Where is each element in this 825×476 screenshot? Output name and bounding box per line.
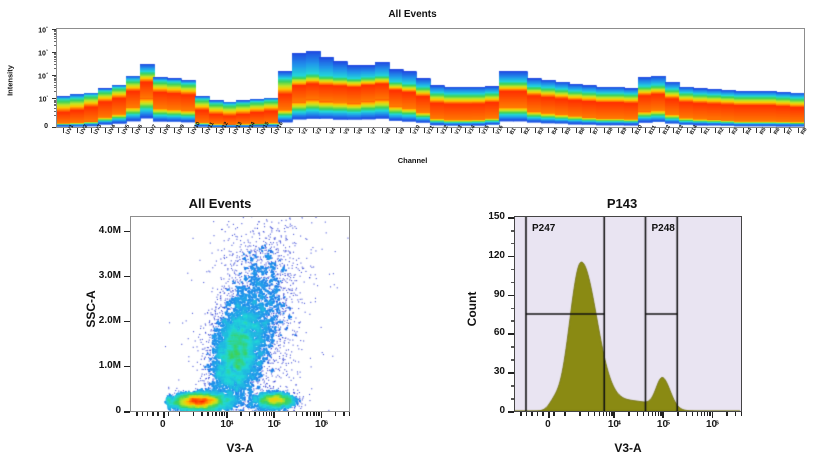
histogram-y-tick-label: 30 bbox=[494, 366, 505, 377]
scatter-title: All Events bbox=[90, 196, 350, 211]
spectral-channel-label: B2 bbox=[523, 127, 532, 136]
histogram-x-tickmark bbox=[526, 412, 527, 416]
scatter-plot-frame bbox=[130, 216, 350, 412]
scatter-x-tick-labels: 010⁴10⁵10⁶ bbox=[130, 419, 350, 435]
scatter-y-tick-label: 4.0M bbox=[99, 225, 121, 236]
spectral-y-axis-label: Intensity bbox=[6, 51, 15, 111]
scatter-x-axis-label: V3-A bbox=[130, 441, 350, 455]
histogram-y-tick-label: 150 bbox=[488, 211, 505, 222]
histogram-x-tickmark bbox=[599, 412, 600, 416]
scatter-x-tickmark bbox=[335, 412, 336, 416]
scatter-x-tickmark bbox=[254, 412, 255, 416]
scatter-y-tick-label: 0 bbox=[115, 405, 121, 416]
scatter-x-tickmark bbox=[318, 412, 319, 416]
spectral-y-tick-label: 10³ bbox=[39, 94, 48, 103]
histogram-title: P143 bbox=[497, 196, 747, 211]
scatter-x-tick-label: 10⁴ bbox=[220, 419, 231, 430]
histogram-x-tickmark bbox=[686, 412, 687, 416]
histogram-x-tickmark bbox=[726, 412, 727, 416]
spectral-channel-label: B1 bbox=[509, 127, 518, 136]
histogram-x-tickmark bbox=[660, 412, 661, 416]
gate-label-p247[interactable]: P247 bbox=[532, 223, 555, 234]
scatter-x-tickmarks bbox=[130, 412, 350, 419]
histogram-x-tick-label: 0 bbox=[545, 419, 551, 430]
spectral-channel-label: R2 bbox=[717, 127, 726, 136]
scatter-x-tickmark bbox=[142, 412, 143, 416]
spectral-y-axis: Intensity 010³10⁴10⁵10⁶ bbox=[0, 24, 56, 134]
spectral-channel-label: R4 bbox=[745, 127, 754, 136]
histogram-y-tick-label: 60 bbox=[494, 327, 505, 338]
histogram-y-tick-label: 120 bbox=[488, 250, 505, 261]
spectral-y-tick-label: 10⁴ bbox=[38, 71, 48, 80]
histogram-x-tickmark bbox=[520, 412, 521, 416]
histogram-x-tickmark bbox=[735, 412, 736, 416]
histogram-x-tickmark bbox=[677, 412, 678, 416]
scatter-x-tickmark bbox=[193, 412, 194, 416]
scatter-x-tickmark bbox=[273, 412, 275, 418]
histogram-x-tickmark bbox=[613, 412, 615, 418]
histogram-x-tickmark bbox=[643, 412, 644, 416]
spectral-plot-frame bbox=[56, 28, 805, 128]
spectral-density-canvas bbox=[57, 29, 804, 127]
histogram-x-tickmark bbox=[537, 412, 538, 416]
histogram-x-tickmark bbox=[606, 412, 607, 416]
scatter-y-axis: SSC-A 01.0M2.0M3.0M4.0M bbox=[70, 210, 130, 420]
histogram-plot-frame: P247 P248 bbox=[514, 216, 742, 412]
scatter-x-tickmark bbox=[263, 412, 264, 416]
histogram-x-tickmark bbox=[548, 412, 550, 418]
spectral-channel-label: V4 bbox=[329, 127, 337, 136]
histogram-x-tickmark bbox=[648, 412, 649, 416]
scatter-x-tickmark bbox=[201, 412, 202, 416]
histogram-x-tickmark bbox=[579, 412, 580, 416]
scatter-x-tickmark bbox=[207, 412, 208, 416]
scatter-x-tickmark bbox=[163, 412, 165, 418]
scatter-y-axis-label: SSC-A bbox=[84, 264, 98, 354]
scatter-y-tick-label: 3.0M bbox=[99, 270, 121, 281]
spectral-channel-label: V9 bbox=[398, 127, 406, 136]
histogram-x-tickmark bbox=[697, 412, 698, 416]
histogram-panel: P143 Count 0306090120150 P247 P248 010⁴1… bbox=[452, 196, 782, 476]
scatter-x-tickmark bbox=[321, 412, 323, 418]
histogram-x-tickmark bbox=[658, 412, 659, 416]
scatter-x-tickmark bbox=[313, 412, 314, 416]
scatter-x-tick-label: 10⁶ bbox=[315, 419, 326, 430]
scatter-x-tickmark bbox=[269, 412, 270, 416]
spectral-title: All Events bbox=[0, 9, 825, 20]
scatter-x-tickmark bbox=[226, 412, 228, 418]
histogram-x-tickmark bbox=[628, 412, 629, 416]
histogram-x-axis-label: V3-A bbox=[514, 441, 742, 455]
histogram-x-tickmark bbox=[662, 412, 664, 418]
spectral-channel-label: R3 bbox=[731, 127, 740, 136]
spectral-channel-label: V6 bbox=[356, 127, 364, 136]
scatter-x-tickmark bbox=[179, 412, 180, 416]
histogram-y-axis-label: Count bbox=[465, 269, 479, 349]
scatter-x-tickmark bbox=[306, 412, 307, 416]
histogram-x-tickmark bbox=[542, 412, 543, 416]
spectral-channel-label: V7 bbox=[370, 127, 378, 136]
scatter-x-tickmark bbox=[349, 412, 350, 416]
scatter-x-tick-label: 10⁵ bbox=[268, 419, 279, 430]
histogram-canvas bbox=[515, 217, 741, 411]
spectral-channel-label: B9 bbox=[620, 127, 629, 136]
histogram-x-tickmark bbox=[692, 412, 693, 416]
histogram-x-tickmarks bbox=[514, 412, 742, 419]
scatter-x-tickmark bbox=[259, 412, 260, 416]
histogram-x-tickmark bbox=[637, 412, 638, 416]
scatter-y-tick-label: 2.0M bbox=[99, 315, 121, 326]
histogram-x-tickmark bbox=[531, 412, 532, 416]
spectral-channel-label: B8 bbox=[606, 127, 615, 136]
histogram-x-tickmark bbox=[712, 412, 714, 418]
histogram-x-tickmark bbox=[564, 412, 565, 416]
histogram-x-tickmark bbox=[603, 412, 604, 416]
scatter-x-tickmark bbox=[215, 412, 216, 416]
histogram-x-tickmark bbox=[594, 412, 595, 416]
scatter-x-tickmark bbox=[302, 412, 303, 416]
scatter-density-canvas bbox=[131, 217, 349, 411]
scatter-x-tickmark bbox=[224, 412, 225, 416]
spectral-channel-label: V1 bbox=[287, 127, 295, 136]
scatter-x-tickmark bbox=[221, 412, 222, 416]
spectral-channel-label: V3 bbox=[315, 127, 323, 136]
spectral-channel-label: R1 bbox=[703, 127, 712, 136]
histogram-x-tick-label: 10⁴ bbox=[608, 419, 619, 430]
scatter-x-tickmark bbox=[136, 412, 137, 416]
scatter-x-tickmark bbox=[343, 412, 344, 416]
histogram-x-tickmark bbox=[553, 412, 554, 416]
histogram-x-tickmark bbox=[707, 412, 708, 416]
scatter-x-tickmark bbox=[316, 412, 317, 416]
histogram-y-axis: Count 0306090120150 bbox=[452, 210, 514, 420]
spectral-channel-label: B6 bbox=[578, 127, 587, 136]
scatter-plot-panel: All Events SSC-A 01.0M2.0M3.0M4.0M 010⁴1… bbox=[70, 196, 390, 476]
scatter-x-tickmark bbox=[271, 412, 272, 416]
scatter-x-tickmark bbox=[147, 412, 148, 416]
histogram-x-tickmark bbox=[704, 412, 705, 416]
histogram-x-tickmark bbox=[652, 412, 653, 416]
histogram-x-tick-labels: 010⁴10⁵10⁶ bbox=[514, 419, 742, 435]
scatter-x-tickmark bbox=[288, 412, 289, 416]
spectral-channel-labels: UV1UV2UV3UV4UV5UV6UV7UV8UV9UV10UV11UV12U… bbox=[56, 133, 805, 157]
scatter-x-tick-label: 0 bbox=[160, 419, 166, 430]
gate-label-p248[interactable]: P248 bbox=[651, 223, 674, 234]
histogram-x-tickmark bbox=[611, 412, 612, 416]
histogram-x-tickmark bbox=[701, 412, 702, 416]
spectral-channel-label: V8 bbox=[384, 127, 392, 136]
histogram-x-tick-label: 10⁵ bbox=[657, 419, 668, 430]
scatter-x-tickmark bbox=[310, 412, 311, 416]
scatter-x-tickmark bbox=[240, 412, 241, 416]
spectral-y-tick-label: 0 bbox=[44, 123, 48, 130]
spectral-channel-label: R8 bbox=[800, 127, 809, 136]
spectral-y-tick-label: 10⁶ bbox=[38, 25, 48, 34]
scatter-x-tickmark bbox=[212, 412, 213, 416]
spectral-channel-label: V2 bbox=[301, 127, 309, 136]
scatter-x-tickmark bbox=[157, 412, 158, 416]
spectral-y-tick-label: 10⁵ bbox=[38, 48, 48, 57]
spectral-channel-label: B7 bbox=[592, 127, 601, 136]
histogram-x-tickmark bbox=[655, 412, 656, 416]
histogram-x-tickmark bbox=[741, 412, 742, 416]
scatter-x-tickmark bbox=[266, 412, 267, 416]
scatter-x-tickmark bbox=[168, 412, 169, 416]
spectral-signature-panel: All Events Intensity 010³10⁴10⁵10⁶ UV1UV… bbox=[0, 0, 825, 180]
scatter-y-tick-label: 1.0M bbox=[99, 360, 121, 371]
spectral-x-axis-label: Channel bbox=[0, 156, 825, 165]
histogram-x-tick-label: 10⁶ bbox=[706, 419, 717, 430]
histogram-y-tick-label: 0 bbox=[499, 405, 505, 416]
histogram-x-tickmark bbox=[588, 412, 589, 416]
histogram-y-tick-label: 90 bbox=[494, 289, 505, 300]
scatter-x-tickmark bbox=[296, 412, 297, 416]
scatter-x-tickmark bbox=[249, 412, 250, 416]
histogram-x-tickmark bbox=[609, 412, 610, 416]
scatter-x-tickmark bbox=[219, 412, 220, 416]
histogram-x-tickmark bbox=[709, 412, 710, 416]
scatter-x-tickmark bbox=[152, 412, 153, 416]
